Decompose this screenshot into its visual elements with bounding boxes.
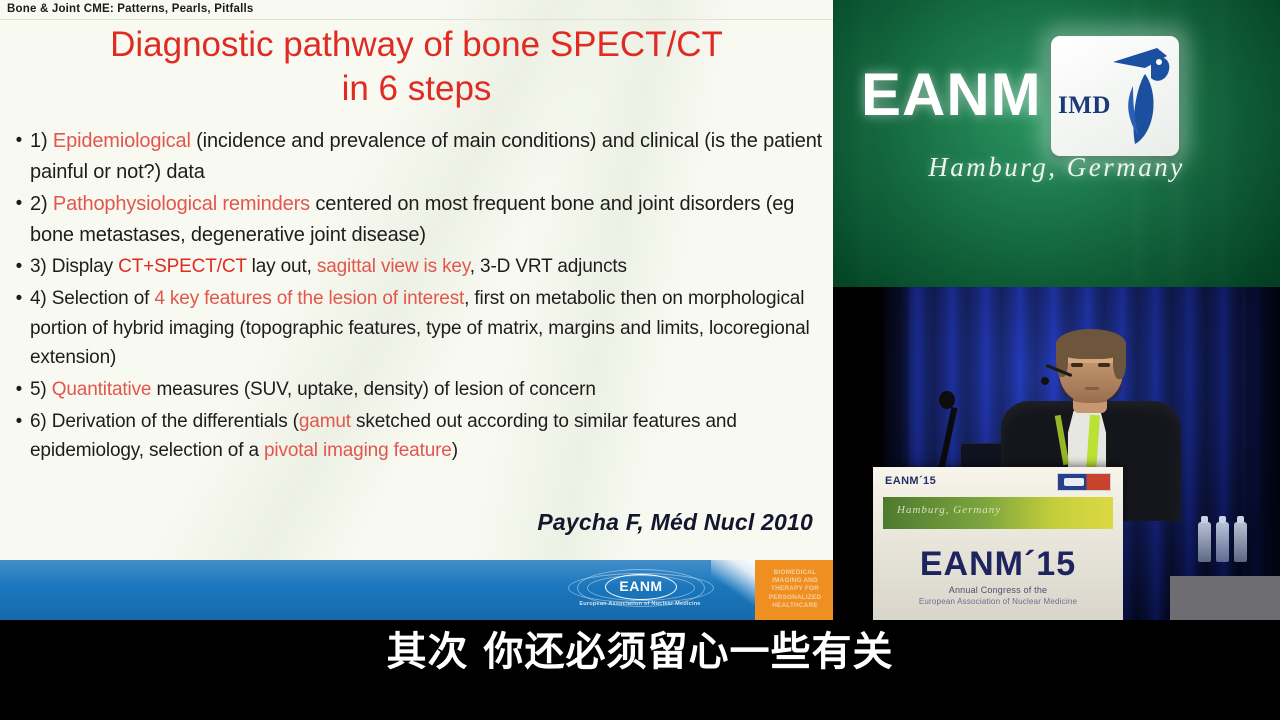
bullet-highlight: CT+SPECT/CT xyxy=(118,256,246,277)
bullet-rest: ) xyxy=(452,440,458,461)
slide-bullet-list: • 1) Epidemiological (incidence and prev… xyxy=(8,126,826,468)
slide-footer-band: EANM European Association of Nuclear Med… xyxy=(0,560,833,620)
speaker-mouth xyxy=(1085,387,1099,390)
bullet-rest: , 3-D VRT adjuncts xyxy=(470,256,627,277)
bullet-highlight: Epidemiological xyxy=(53,130,191,152)
bottle-cap xyxy=(1219,516,1226,523)
bullet-dot-icon: • xyxy=(8,407,30,437)
headset-microphone-capsule xyxy=(1041,377,1049,385)
lectern-panel: EANM´15 Hamburg, Germany EANM´15 Annual … xyxy=(873,467,1123,620)
flag-white-shape xyxy=(1064,478,1084,486)
bullet-highlight-2: sagittal view is key xyxy=(317,256,470,277)
list-item: • 3) Display CT+SPECT/CT lay out, sagitt… xyxy=(8,252,826,282)
bottle xyxy=(1216,522,1229,562)
slide-kicker-label: Bone & Joint CME: Patterns, Pearls, Pitf… xyxy=(7,3,254,15)
slide-title: Diagnostic pathway of bone SPECT/CT in 6… xyxy=(0,23,833,111)
bullet-number: 3) xyxy=(30,256,47,277)
slide-title-line-1: Diagnostic pathway of bone SPECT/CT xyxy=(110,25,723,64)
bottle-cap xyxy=(1201,516,1208,523)
lectern-title: EANM´15 xyxy=(873,545,1123,584)
lectern-subtitle: Annual Congress of the xyxy=(873,585,1123,595)
footer-orange-text: BIOMEDICAL IMAGING AND THERAPY FOR PERSO… xyxy=(761,569,829,610)
bullet-pre: Display xyxy=(52,256,118,277)
imd-wordmark: IMD xyxy=(1058,92,1111,120)
bullet-highlight: 4 key features of the lesion of interest xyxy=(154,288,464,309)
bullet-text: 1) Epidemiological (incidence and preval… xyxy=(30,126,826,187)
video-player-frame: Bone & Joint CME: Patterns, Pearls, Pitf… xyxy=(0,0,1280,720)
bullet-highlight-2: pivotal imaging feature xyxy=(264,440,452,461)
bullet-pre: Selection of xyxy=(52,288,155,309)
list-item: • 2) Pathophysiological reminders center… xyxy=(8,189,826,250)
bullet-rest: measures (SUV, uptake, density) of lesio… xyxy=(151,379,595,400)
bottle xyxy=(1234,522,1247,562)
eanm-wordmark: EANM xyxy=(861,60,1042,129)
list-item: • 5) Quantitative measures (SUV, uptake,… xyxy=(8,375,826,405)
bullet-pre: Derivation of the differentials ( xyxy=(52,411,299,432)
imd-logo-tile: IMD xyxy=(1051,36,1179,156)
slide-citation: Paycha F, Méd Nucl 2010 xyxy=(537,509,813,536)
bullet-mid: lay out, xyxy=(247,256,317,277)
congress-location: Hamburg, Germany xyxy=(833,152,1280,183)
bullet-dot-icon: • xyxy=(8,284,30,314)
bullet-number: 1) xyxy=(30,130,47,152)
bullet-text: 6) Derivation of the differentials (gamu… xyxy=(30,407,826,466)
bullet-number: 4) xyxy=(30,288,47,309)
bullet-dot-icon: • xyxy=(8,375,30,405)
list-item: • 6) Derivation of the differentials (ga… xyxy=(8,407,826,466)
bullet-text: 5) Quantitative measures (SUV, uptake, d… xyxy=(30,375,826,405)
list-item: • 1) Epidemiological (incidence and prev… xyxy=(8,126,826,187)
presentation-slide: Bone & Joint CME: Patterns, Pearls, Pitf… xyxy=(0,0,833,620)
congress-branding-panel: EANM IMD Hamburg, Germany xyxy=(833,0,1280,287)
bullet-highlight: Quantitative xyxy=(52,379,152,400)
slide-title-line-2: in 6 steps xyxy=(0,67,833,111)
bottle-cap xyxy=(1237,516,1244,523)
video-subtitle: 其次 你还必须留心一些有关 xyxy=(0,626,1280,678)
lectern-banner-script: Hamburg, Germany xyxy=(897,504,1001,516)
side-table xyxy=(1170,576,1280,620)
logo-subtitle: European Association of Nuclear Medicine xyxy=(565,601,715,607)
footer-band-wedge xyxy=(711,560,755,620)
speaker-hair-right xyxy=(1113,337,1126,379)
bullet-number: 6) xyxy=(30,411,47,432)
speaker-video-feed[interactable]: EANM´15 Hamburg, Germany EANM´15 Annual … xyxy=(833,287,1280,620)
speaker-eye-right xyxy=(1098,363,1110,367)
bullet-dot-icon: • xyxy=(8,126,30,156)
bullet-highlight: Pathophysiological reminders xyxy=(53,193,310,215)
bullet-text: 3) Display CT+SPECT/CT lay out, sagittal… xyxy=(30,252,826,282)
footer-orange-block: BIOMEDICAL IMAGING AND THERAPY FOR PERSO… xyxy=(755,560,833,620)
lectern-subtitle-2: European Association of Nuclear Medicine xyxy=(873,597,1123,606)
lectern-flag-graphic xyxy=(1057,473,1111,491)
bullet-number: 5) xyxy=(30,379,47,400)
stage-shadow-right xyxy=(1246,287,1280,620)
eanm-footer-logo: EANM European Association of Nuclear Med… xyxy=(565,566,715,614)
logo-wordmark: EANM xyxy=(605,574,677,600)
bottle xyxy=(1198,522,1211,562)
lectern-green-banner: Hamburg, Germany xyxy=(883,497,1113,529)
water-bottles xyxy=(1198,516,1268,562)
bullet-dot-icon: • xyxy=(8,252,30,282)
bullet-dot-icon: • xyxy=(8,189,30,219)
bullet-number: 2) xyxy=(30,193,47,215)
bullet-text: 2) Pathophysiological reminders centered… xyxy=(30,189,826,250)
bullet-highlight: gamut xyxy=(299,411,351,432)
speaker-eye-left xyxy=(1071,363,1083,367)
list-item: • 4) Selection of 4 key features of the … xyxy=(8,284,826,373)
bullet-text: 4) Selection of 4 key features of the le… xyxy=(30,284,826,373)
lectern-small-label: EANM´15 xyxy=(885,475,936,487)
slide-header-divider xyxy=(0,19,833,20)
